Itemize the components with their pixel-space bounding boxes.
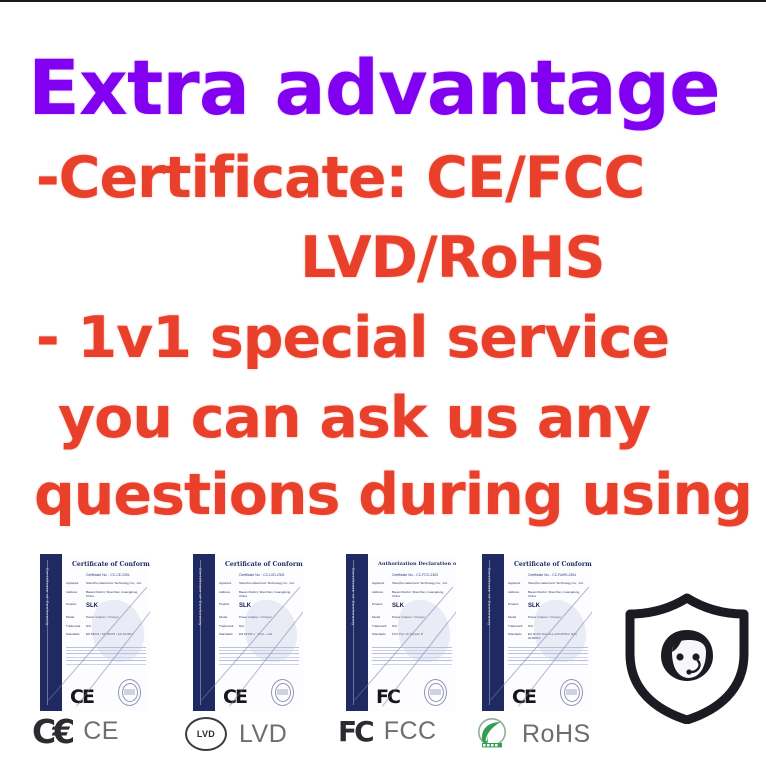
certificate-field-row: Applicant Shenzhen Electronic Technology… (372, 582, 452, 586)
headline-line-5: questions during using (34, 467, 752, 524)
certificate-badge-lvd: LVD LVD (173, 717, 325, 751)
certificate-thumbnail: Certificate of Conformity Certificate of… (482, 554, 592, 711)
certificate-heading: Certificate of Conformity (225, 561, 299, 568)
certificate-field-label: Product (372, 603, 389, 607)
certificate-field-label: Standards (372, 633, 389, 637)
certificate-field-label: Applicant (372, 582, 389, 586)
certificate-field-value: Shenzhen Electronic Technology Co., Ltd. (392, 582, 452, 586)
certificate-field-label: Trademark (372, 625, 389, 629)
ce-mark-icon: C€ (32, 717, 71, 747)
certificate-badge-fcc: FC FCC (326, 717, 478, 746)
certificate-stamp-icon (560, 679, 583, 706)
certificate-item-lvd: Certificate of Conformity Certificate of… (173, 554, 325, 711)
certificate-stamp-icon (118, 679, 141, 706)
certificate-field-label: Model (219, 616, 236, 620)
certificate-field-label: Applicant (66, 582, 83, 586)
headline-line-4: you can ask us any (58, 390, 650, 447)
certificate-field-label: Product (219, 603, 236, 607)
certificate-stamp-icon (424, 679, 447, 706)
certificate-field-row: Address Baoan District, Shenzhen, Guangd… (372, 591, 452, 599)
certificate-badge-rohs: RoHS (462, 717, 614, 751)
certificate-field-label: Address (372, 591, 389, 595)
certificate-field-label: Standards (508, 633, 525, 637)
certificate-field-label: Applicant (508, 582, 525, 586)
certificate-badge-ce: C€ CE (20, 717, 172, 747)
certificate-field-value: Shenzhen Electronic Technology Co., Ltd. (239, 582, 299, 586)
certificate-field-row: Applicant Shenzhen Electronic Technology… (66, 582, 146, 586)
headline-line-2: LVD/RoHS (300, 230, 605, 287)
headline-line-3: - 1v1 special service (36, 310, 669, 367)
promo-banner: Extra advantage -Certificate: CE/FCC LVD… (0, 0, 766, 768)
certificate-badge-label: LVD (239, 720, 287, 749)
certificate-field-label: Trademark (66, 625, 83, 629)
certificate-badge-label: FCC (384, 717, 437, 746)
certificate-field-label: Model (372, 616, 389, 620)
certificate-sidebar-text: Certificate of Conformity (45, 568, 50, 698)
certificate-badge-label: CE (83, 717, 119, 746)
certificate-subtitle: Certificate No. : CC-FCC-2303 (392, 573, 438, 577)
certificate-stamp-icon (271, 679, 294, 706)
certificate-sidebar-text: Certificate of Conformity (198, 568, 203, 698)
certificate-subtitle: Certificate No. : CC-RoHS-2304 (528, 573, 576, 577)
certificate-heading: Certificate of Conformity (72, 561, 146, 568)
headline-line-1: -Certificate: CE/FCC (36, 150, 644, 207)
certificate-badge-label: RoHS (522, 720, 591, 749)
certificate-thumbnail: Certificate of Conformity Certificate of… (193, 554, 303, 711)
certificate-field-row: Address Baoan District, Shenzhen, Guangd… (219, 591, 299, 599)
certificate-field-label: Address (219, 591, 236, 595)
certificate-heading: Authorization Declaration of Conformity (378, 561, 452, 567)
certificate-field-row: Applicant Shenzhen Electronic Technology… (219, 582, 299, 586)
certificate-field-value: Shenzhen Electronic Technology Co., Ltd. (86, 582, 146, 586)
certificate-field-value: Shenzhen Electronic Technology Co., Ltd. (528, 582, 588, 586)
page-title: Extra advantage (28, 50, 720, 126)
certificate-sidebar-text: Certificate of Conformity (487, 568, 492, 698)
lvd-seal-icon: LVD (185, 717, 227, 751)
certificate-field-label: Applicant (219, 582, 236, 586)
certificate-subtitle: Certificate No. : CC-LVD-2302 (239, 573, 284, 577)
certificate-item-fcc: Certificate of Conformity Authorization … (326, 554, 478, 711)
certificate-field-label: Address (66, 591, 83, 595)
certificate-field-label: Product (66, 603, 83, 607)
certificate-item-ce: Certificate of Conformity Certificate of… (20, 554, 172, 711)
certificate-item-rohs: Certificate of Conformity Certificate of… (462, 554, 614, 711)
certificate-field-label: Model (66, 616, 83, 620)
certificate-field-label: Address (508, 591, 525, 595)
certificate-field-label: Standards (219, 633, 236, 637)
certificate-sidebar-text: Certificate of Conformity (351, 568, 356, 698)
fcc-mark-icon: FC (338, 719, 372, 744)
certificate-thumbnail: Certificate of Conformity Certificate of… (40, 554, 150, 711)
certificate-field-row: Address Baoan District, Shenzhen, Guangd… (508, 591, 588, 599)
certificate-thumbnail: Certificate of Conformity Authorization … (346, 554, 456, 711)
certificate-field-label: Trademark (508, 625, 525, 629)
certificate-subtitle: Certificate No. : CC-CE-2301 (86, 573, 130, 577)
certificate-field-label: Trademark (219, 625, 236, 629)
rohs-leaf-icon (474, 717, 510, 751)
certificate-field-label: Product (508, 603, 525, 607)
support-shield-badge (622, 592, 752, 724)
certificate-heading: Certificate of Conformity (514, 561, 588, 568)
certificate-field-row: Applicant Shenzhen Electronic Technology… (508, 582, 588, 586)
shield-support-agent-icon (622, 592, 752, 724)
certificate-field-row: Address Baoan District, Shenzhen, Guangd… (66, 591, 146, 599)
certificate-field-label: Model (508, 616, 525, 620)
certificate-field-label: Standards (66, 633, 83, 637)
